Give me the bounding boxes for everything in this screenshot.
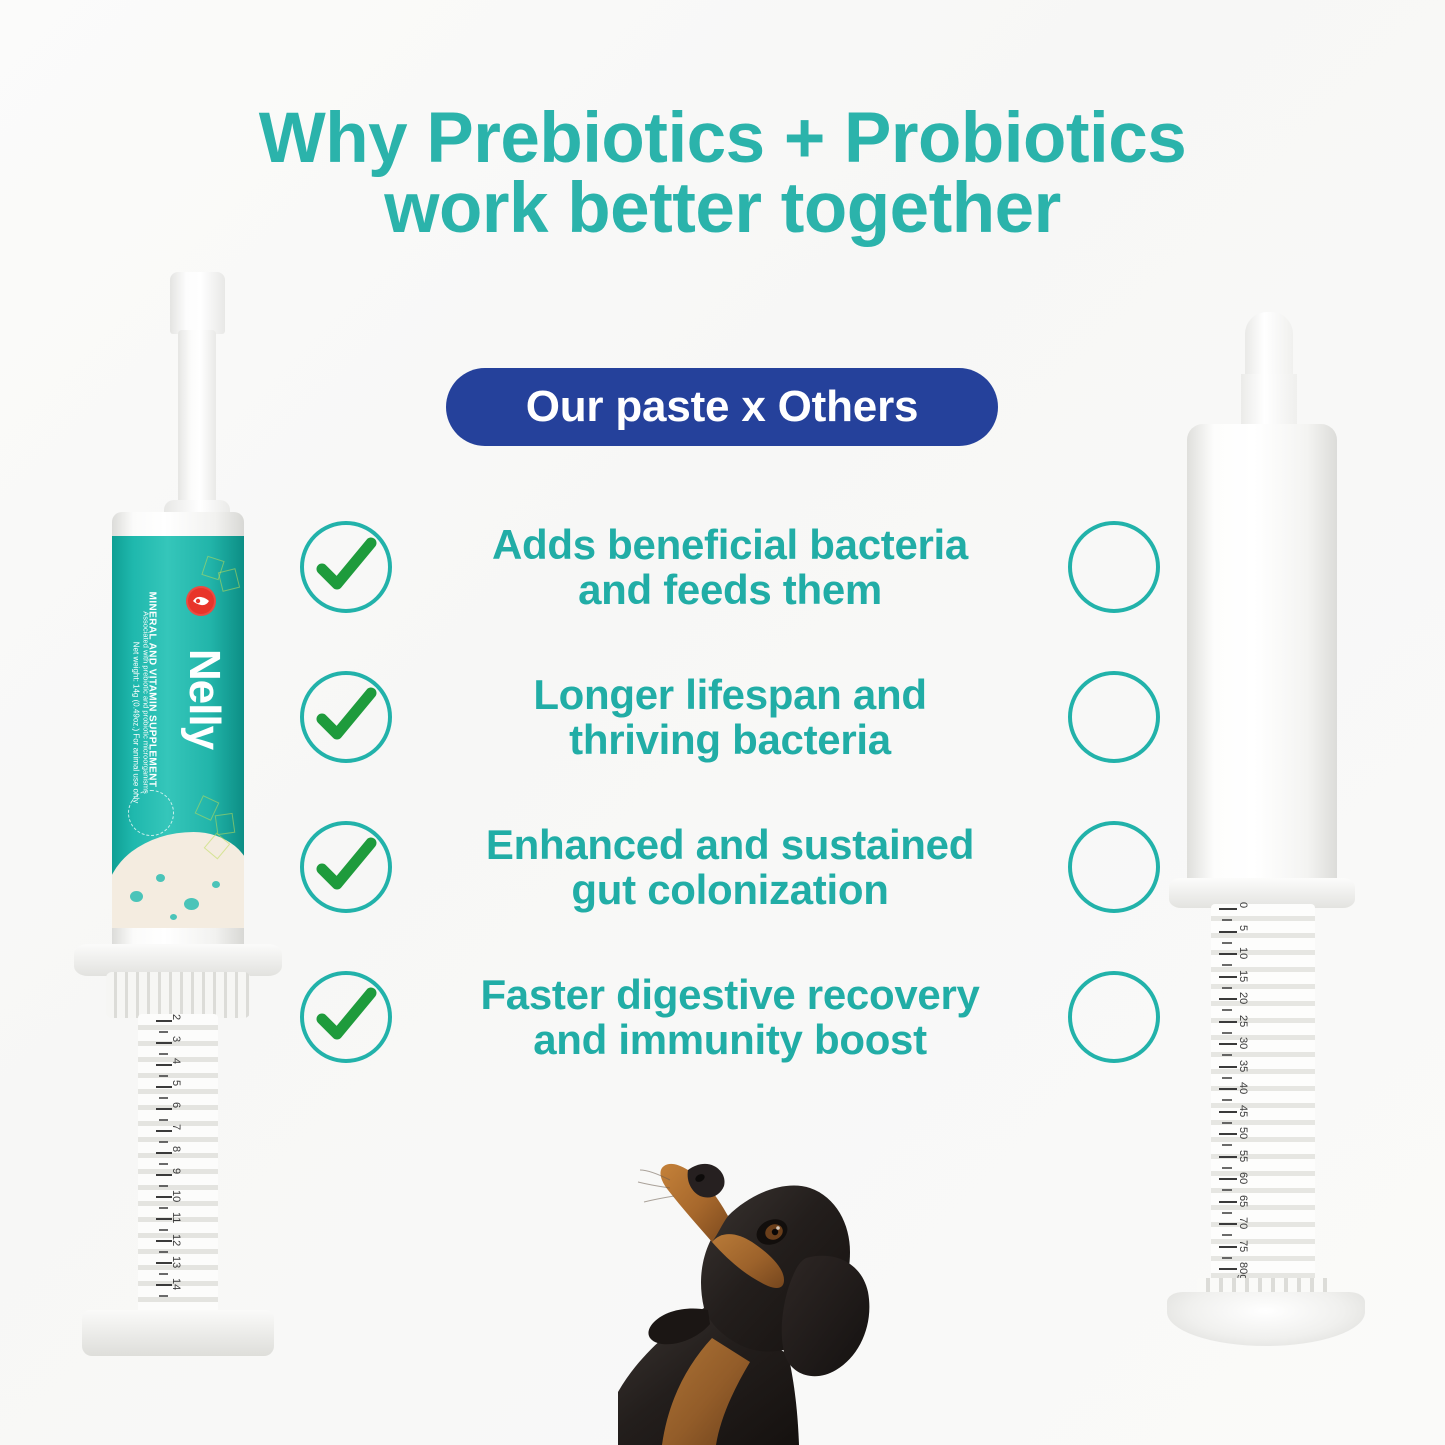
feature-label-line-1: Faster digestive recovery [480, 971, 979, 1018]
scale-tick-label: 35 [1237, 1060, 1249, 1072]
syringe-dose-scale-left: 234567891011121314 [156, 1020, 212, 1312]
scale-tick-label: 30 [1237, 1037, 1249, 1049]
scale-tick-label: 70 [1237, 1217, 1249, 1229]
scale-tick-minor [159, 1031, 168, 1033]
syringe-cap [170, 272, 225, 334]
syringe-collar [106, 972, 250, 1018]
scale-tick-major [156, 1174, 172, 1176]
scale-tick-label: 9 [170, 1168, 182, 1174]
feature-label-line-1: Enhanced and sustained [486, 821, 974, 868]
empty-circle-icon [1068, 821, 1160, 913]
check-mark-glyph [309, 530, 383, 604]
quality-seal-icon [128, 790, 174, 836]
scale-tick-minor [1222, 987, 1232, 989]
feature-label: Adds beneficial bacteria and feeds them [392, 522, 1068, 613]
feature-label-line-2: and immunity boost [406, 1017, 1054, 1062]
page-title-line-1: Why Prebiotics + Probiotics [0, 104, 1445, 174]
scale-tick-minor [159, 1251, 168, 1253]
syringe-tip [1245, 312, 1293, 382]
scale-tick-minor [1222, 1122, 1232, 1124]
scale-tick-label: 6 [170, 1102, 182, 1108]
scale-tick-label: 55 [1237, 1150, 1249, 1162]
dog-pupil [772, 1229, 778, 1235]
scale-tick-label: 40 [1237, 1082, 1249, 1094]
scale-tick-major [1219, 1156, 1237, 1158]
page-title-line-2: work better together [0, 174, 1445, 244]
scale-tick-major [156, 1152, 172, 1154]
check-mark-glyph [309, 680, 383, 754]
scale-tick-label: 2 [170, 1014, 182, 1020]
scale-tick-minor [159, 1185, 168, 1187]
syringe-nozzle [178, 330, 216, 510]
scale-tick-major [1219, 953, 1237, 955]
syringe-barrel: Nelly MINERAL AND VITAMIN SUPPLEMENT Ass… [112, 512, 244, 952]
scale-tick-major [1219, 1133, 1237, 1135]
syringe-barrel [1187, 424, 1337, 884]
check-mark-glyph [309, 980, 383, 1054]
scale-tick-major [156, 1042, 172, 1044]
scale-tick-minor [1222, 1167, 1232, 1169]
empty-circle-icon [1068, 671, 1160, 763]
scale-tick-major [1219, 1066, 1237, 1068]
scale-tick-major [156, 1108, 172, 1110]
scale-tick-minor [1222, 1212, 1232, 1214]
scale-tick-major [156, 1020, 172, 1022]
scale-tick-major [1219, 1088, 1237, 1090]
table-row: Faster digestive recovery and immunity b… [300, 942, 1160, 1092]
scale-tick-major [1219, 1021, 1237, 1023]
scale-tick-minor [1222, 964, 1232, 966]
feature-label-line-2: and feeds them [406, 567, 1054, 612]
product-label: Nelly MINERAL AND VITAMIN SUPPLEMENT Ass… [112, 536, 244, 928]
scale-tick-minor [1222, 942, 1232, 944]
scale-tick-label: 8 [170, 1146, 182, 1152]
scale-tick-major [1219, 908, 1237, 910]
infographic-page: Why Prebiotics + Probiotics work better … [0, 0, 1445, 1445]
scale-tick-major [1219, 976, 1237, 978]
scale-tick-minor [1222, 1032, 1232, 1034]
scale-tick-major [156, 1130, 172, 1132]
scale-tick-label: 45 [1237, 1105, 1249, 1117]
scale-tick-minor [159, 1207, 168, 1209]
table-row: Adds beneficial bacteria and feeds them [300, 492, 1160, 642]
table-row: Longer lifespan and thriving bacteria [300, 642, 1160, 792]
scale-tick-label: 15 [1237, 970, 1249, 982]
scale-tick-minor [159, 1273, 168, 1275]
scale-tick-minor [1222, 919, 1232, 921]
syringe-plunger-base [82, 1310, 274, 1356]
scale-tick-major [1219, 1178, 1237, 1180]
scale-tick-label: 20 [1237, 992, 1249, 1004]
scale-tick-label: 3 [170, 1036, 182, 1042]
scale-tick-minor [1222, 1189, 1232, 1191]
scale-tick-minor [159, 1141, 168, 1143]
feature-label-line-2: thriving bacteria [406, 717, 1054, 762]
scale-tick-major [1219, 1043, 1237, 1045]
check-mark-glyph [309, 830, 383, 904]
scale-tick-label: 65 [1237, 1195, 1249, 1207]
scale-tick-label: 50 [1237, 1127, 1249, 1139]
check-icon [300, 521, 392, 613]
dog-ear-right [782, 1256, 870, 1376]
scale-tick-major [1219, 998, 1237, 1000]
scale-tick-minor [159, 1053, 168, 1055]
scale-tick-label: 7 [170, 1124, 182, 1130]
table-row: Enhanced and sustained gut colonization [300, 792, 1160, 942]
empty-circle-icon [1068, 521, 1160, 613]
scale-tick-label: 10 [170, 1190, 182, 1202]
dog-photo [600, 1140, 940, 1445]
feature-label: Longer lifespan and thriving bacteria [392, 672, 1068, 763]
check-icon [300, 821, 392, 913]
feature-label: Enhanced and sustained gut colonization [392, 822, 1068, 913]
scale-tick-minor [1222, 1054, 1232, 1056]
scale-tick-minor [159, 1163, 168, 1165]
scale-tick-major [1219, 1201, 1237, 1203]
scale-tick-minor [159, 1075, 168, 1077]
feature-label-line-1: Longer lifespan and [533, 671, 926, 718]
scale-tick-label: 14 [170, 1278, 182, 1290]
scale-tick-major [1219, 1246, 1237, 1248]
check-icon [300, 971, 392, 1063]
scale-tick-major [1219, 931, 1237, 933]
scale-tick-label: 5 [170, 1080, 182, 1086]
brand-name: Nelly [179, 599, 229, 799]
scale-tick-minor [1222, 1257, 1232, 1259]
scale-tick-major [1219, 1223, 1237, 1225]
scale-tick-minor [1222, 1009, 1232, 1011]
scale-tick-major [1219, 1111, 1237, 1113]
syringe-plunger-base [1167, 1292, 1365, 1346]
scale-tick-label: 10 [1237, 947, 1249, 959]
page-title: Why Prebiotics + Probiotics work better … [0, 104, 1445, 243]
scale-tick-minor [1222, 1099, 1232, 1101]
empty-circle-icon [1068, 971, 1160, 1063]
scale-tick-label: 0 [1237, 902, 1249, 908]
scale-tick-major [156, 1086, 172, 1088]
scale-tick-minor [159, 1295, 168, 1297]
scale-tick-label: 75 [1237, 1240, 1249, 1252]
scale-tick-major [1219, 1268, 1237, 1270]
scale-tick-label: 25 [1237, 1015, 1249, 1027]
product-syringe-generic: 05101520253035404550556065707580g [1163, 312, 1393, 1372]
scale-tick-label: 5 [1237, 925, 1249, 931]
product-syringe-branded: Nelly MINERAL AND VITAMIN SUPPLEMENT Ass… [60, 272, 310, 1392]
scale-tick-minor [1222, 1144, 1232, 1146]
scale-tick-minor [1222, 1234, 1232, 1236]
scale-tick-minor [1222, 1077, 1232, 1079]
feature-label-line-2: gut colonization [406, 867, 1054, 912]
scale-tick-label: 11 [170, 1212, 182, 1223]
scale-tick-label: 60 [1237, 1172, 1249, 1184]
scale-tick-minor [159, 1229, 168, 1231]
feature-label-line-1: Adds beneficial bacteria [492, 521, 968, 568]
comparison-badge-label: Our paste x Others [526, 382, 919, 432]
scale-tick-label: 12 [170, 1234, 182, 1246]
scale-tick-minor [159, 1097, 168, 1099]
dog-eye-highlight [776, 1226, 780, 1230]
syringe-dose-scale-right: 05101520253035404550556065707580g [1219, 908, 1281, 1298]
scale-tick-label: 13 [170, 1256, 182, 1268]
scale-tick-minor [159, 1119, 168, 1121]
scale-tick-label: 4 [170, 1058, 182, 1064]
check-icon [300, 671, 392, 763]
scale-tick-major [156, 1064, 172, 1066]
comparison-table: Adds beneficial bacteria and feeds them … [300, 492, 1160, 1092]
comparison-badge: Our paste x Others [446, 368, 998, 446]
feature-label: Faster digestive recovery and immunity b… [392, 972, 1068, 1063]
